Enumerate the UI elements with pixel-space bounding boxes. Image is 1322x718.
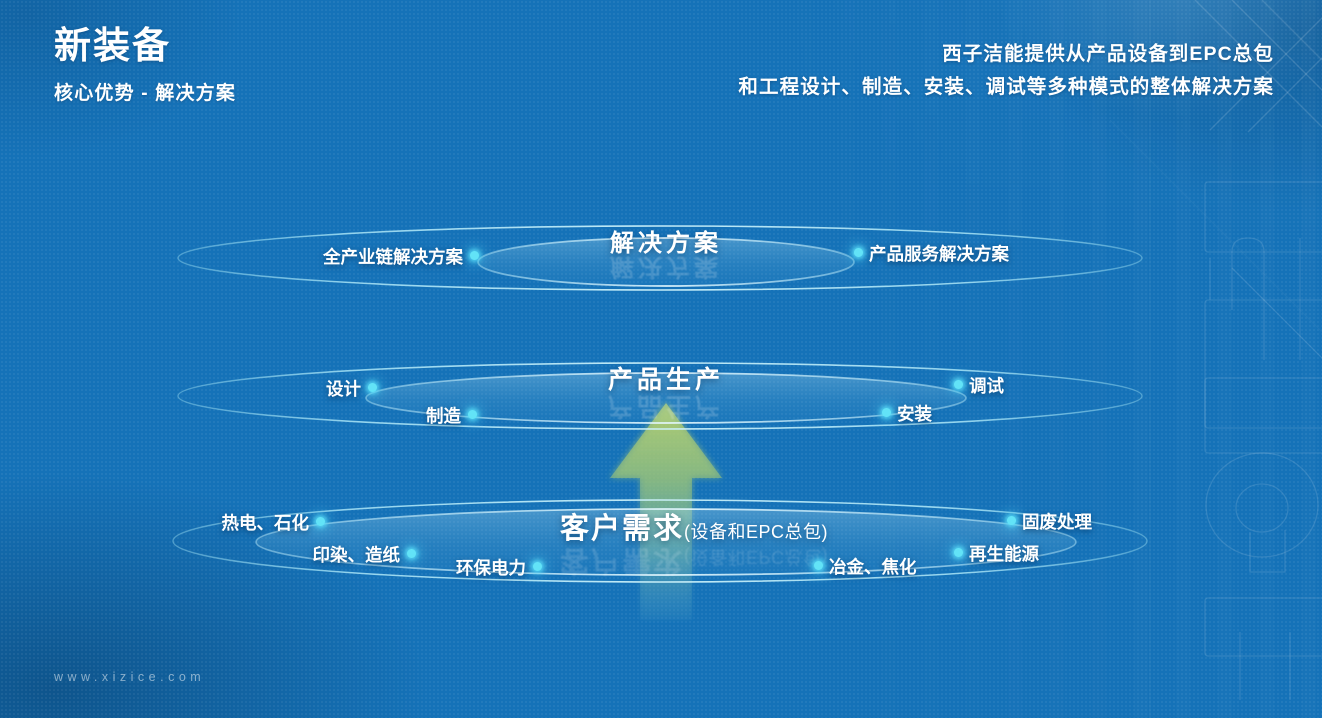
node-label: 制造 [426, 403, 461, 428]
node-label: 产品服务解决方案 [869, 241, 1009, 266]
ring-demand-title-sub: (设备和EPC总包) [684, 522, 828, 542]
node-dot-icon [1007, 516, 1016, 525]
node-dot-icon [468, 410, 477, 419]
node-dot-icon [533, 562, 542, 571]
diagram-rings-svg [0, 0, 1322, 718]
node-label: 环保电力 [456, 555, 526, 580]
node-label: 设计 [326, 376, 361, 401]
node-dot-icon [316, 517, 325, 526]
node-dot-icon [814, 561, 823, 570]
node-label: 全产业链解决方案 [323, 244, 463, 269]
node-label: 印染、造纸 [313, 542, 401, 567]
node-dot-icon [854, 248, 863, 257]
ring-demand-title-reflection: 客户需求(设备和EPC总包) [560, 542, 828, 584]
slide-canvas: 新装备 核心优势 - 解决方案 西子洁能提供从产品设备到EPC总包 和工程设计、… [0, 0, 1322, 718]
node-label: 热电、石化 [222, 510, 310, 535]
node-label: 再生能源 [969, 541, 1039, 566]
ring-production-title: 产品生产 [608, 360, 724, 396]
diagram-stage: 解决方案 解决方案 产品生产 产品生产 客户需求(设备和EPC总包) 客户需求(… [0, 0, 1322, 718]
node-label: 冶金、焦化 [829, 554, 917, 579]
ring-demand-title-main: 客户需求 [560, 513, 684, 545]
ring-solution-title: 解决方案 [610, 223, 722, 258]
node-label: 调试 [969, 373, 1004, 398]
node-dot-icon [954, 380, 963, 389]
footer-website-url[interactable]: www.xizice.com [54, 670, 205, 684]
node-dot-icon [882, 408, 891, 417]
node-label: 固废处理 [1022, 509, 1092, 534]
ring-demand-title: 客户需求(设备和EPC总包) [560, 505, 828, 547]
node-dot-icon [368, 383, 377, 392]
node-dot-icon [954, 548, 963, 557]
node-dot-icon [470, 251, 479, 260]
node-dot-icon [407, 549, 416, 558]
node-label: 安装 [897, 401, 932, 426]
